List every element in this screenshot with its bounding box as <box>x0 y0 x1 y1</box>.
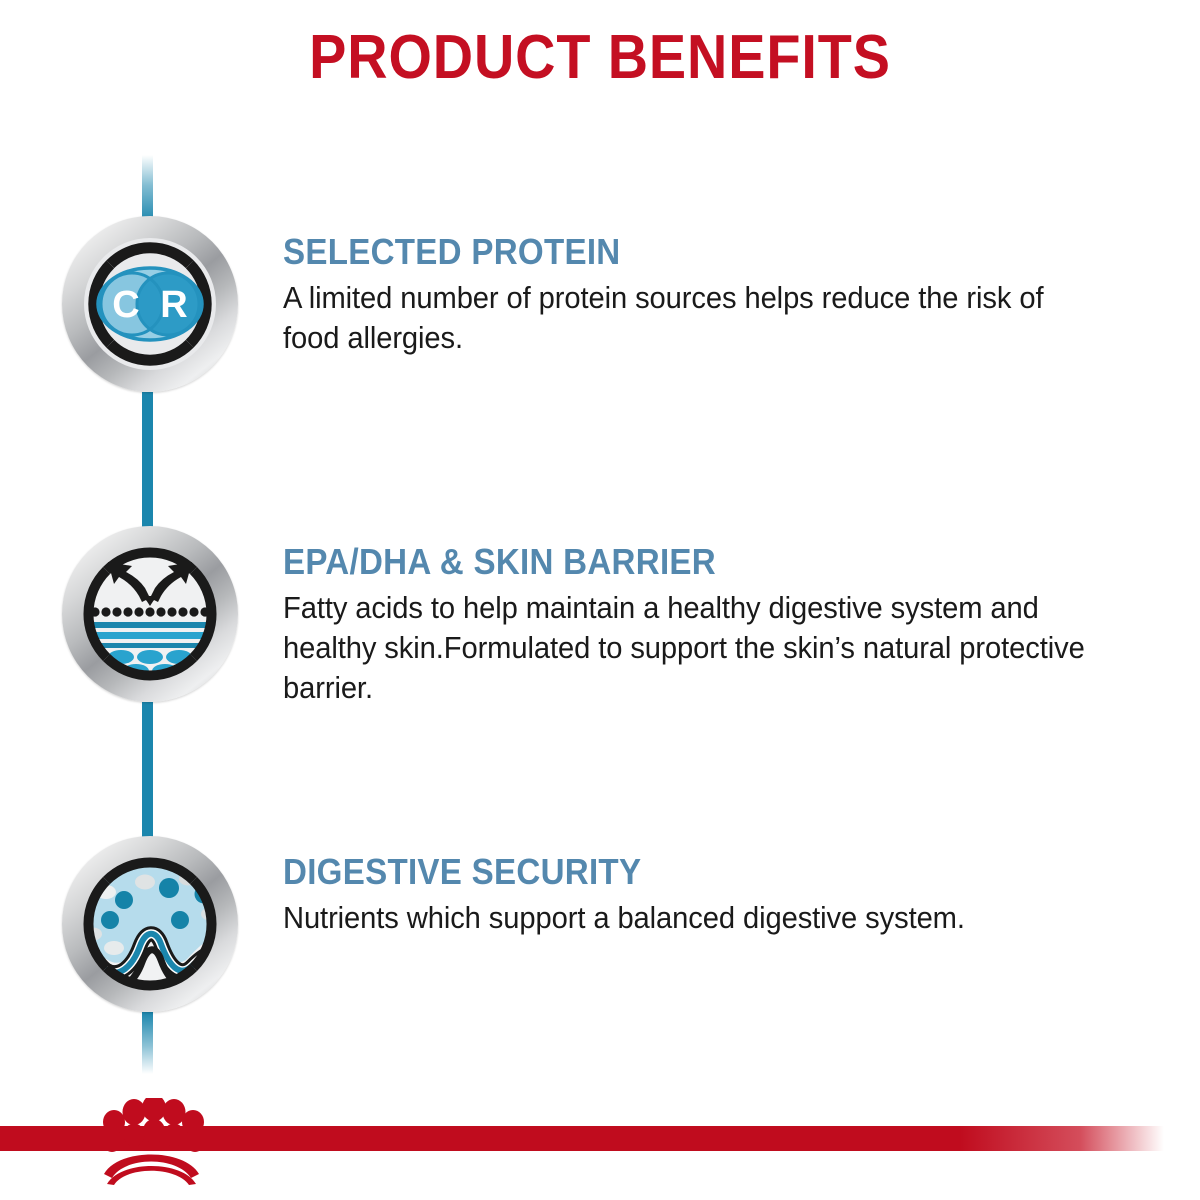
benefit-text-block: DIGESTIVE SECURITY Nutrients which suppo… <box>283 852 1095 938</box>
benefit-body: A limited number of protein sources help… <box>283 278 1091 358</box>
benefit-body: Nutrients which support a balanced diges… <box>283 898 1091 938</box>
connector-line-top <box>142 155 153 223</box>
page-title: PRODUCT BENEFITS <box>60 22 1140 93</box>
connector-line-bottom <box>142 1012 153 1074</box>
royal-canin-crown-logo <box>92 1098 210 1186</box>
benefit-body: Fatty acids to help maintain a healthy d… <box>283 588 1091 708</box>
epa-dha-skin-barrier-icon-wrap <box>62 526 238 702</box>
benefit-heading: SELECTED PROTEIN <box>283 232 1030 272</box>
benefit-heading: DIGESTIVE SECURITY <box>283 852 1030 892</box>
icon-letter-r: R <box>160 284 187 326</box>
connector-line-segment-1 <box>142 392 153 532</box>
selected-protein-icon-wrap: C R <box>62 216 238 392</box>
digestive-security-icon-wrap <box>62 836 238 1012</box>
connector-line-segment-2 <box>142 702 153 842</box>
selected-protein-icon: C R <box>62 216 238 392</box>
epa-dha-skin-barrier-icon <box>62 526 238 702</box>
benefit-heading: EPA/DHA & SKIN BARRIER <box>283 542 1030 582</box>
digestive-security-icon <box>62 836 238 1012</box>
benefit-text-block: EPA/DHA & SKIN BARRIER Fatty acids to he… <box>283 542 1095 708</box>
icon-letter-c: C <box>112 284 139 326</box>
benefit-text-block: SELECTED PROTEIN A limited number of pro… <box>283 232 1095 358</box>
